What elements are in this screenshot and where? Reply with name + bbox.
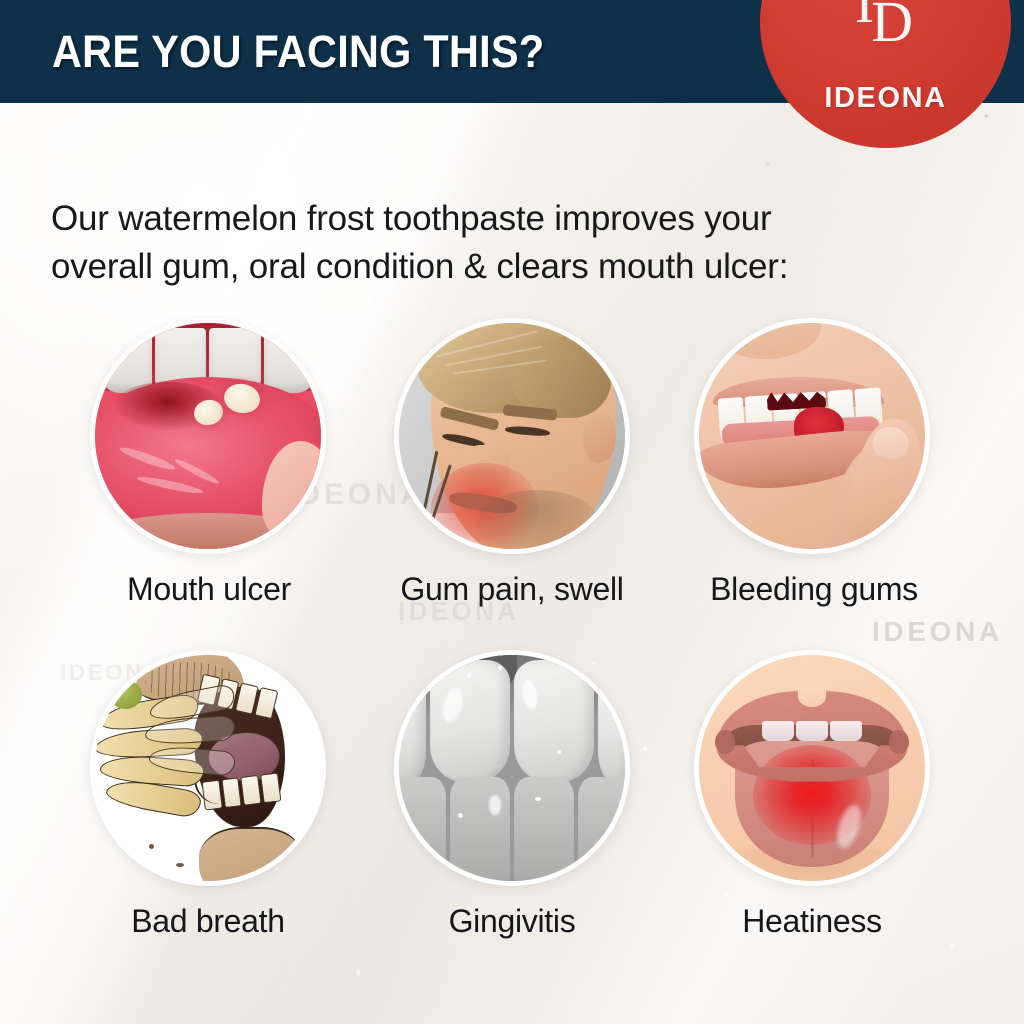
symptom-card-bleeding-gums[interactable]: Bleeding gums [662,318,962,608]
tooth [762,721,794,741]
poster-canvas: IDEONA IDEONA IDEONA IDEONA ARE YOU FACI… [0,0,1024,1024]
tooth [796,721,828,741]
brand-logo-badge[interactable]: ID IDEONA [760,0,1011,148]
bleeding-gums-photo [699,323,925,549]
tooth [264,328,316,394]
symptom-thumb-frame [694,650,930,886]
symptom-thumb-frame [90,318,326,554]
intro-paragraph: Our watermelon frost toothpaste improves… [51,195,951,290]
symptom-thumb-frame [694,318,930,554]
logo-wordmark: IDEONA [760,82,1011,115]
symptom-thumb-frame [394,318,630,554]
heat-upper-teeth [762,721,861,741]
ging-upper-teeth [399,660,625,782]
symptom-card-bad-breath[interactable]: Bad breath [58,650,358,940]
breath-ink-speck [176,863,184,867]
tooth [598,677,625,782]
symptom-label: Gingivitis [362,903,662,940]
breath-ink-speck [149,844,154,849]
tooth [578,777,625,881]
symptom-card-mouth-ulcer[interactable]: Mouth ulcer [58,318,358,608]
pain-stubble [476,490,598,549]
mouth-ulcer-photo [95,323,321,549]
pain-ear [582,413,616,463]
symptom-label: Mouth ulcer [60,571,358,608]
bad-breath-illustration [95,655,321,881]
intro-line-2: overall gum, oral condition & clears mou… [51,243,951,291]
ging-fleck [467,673,472,678]
tooth [399,677,426,782]
heat-chin-shadow [722,849,903,881]
tooth [514,660,594,782]
logo-monogram-letter-d: D [871,0,913,54]
man-wincing-photo [399,323,625,549]
inflamed-tongue-illustration [699,655,925,881]
symptom-thumb-frame [394,650,630,886]
ging-lower-teeth [399,777,625,881]
tooth [241,775,262,806]
tooth [399,777,446,881]
symptom-label: Gum pain, swell [362,571,662,608]
symptom-thumb-frame [90,650,326,886]
breath-jaw [199,827,303,881]
symptom-label: Bad breath [58,903,358,940]
tooth [450,777,510,881]
symptom-card-gum-pain[interactable]: Gum pain, swell [362,318,662,608]
intro-line-1: Our watermelon frost toothpaste improves… [51,195,951,243]
symptom-label: Bleeding gums [666,571,962,608]
heat-lip-notch [798,687,825,707]
logo-monogram: ID [760,0,1011,69]
symptom-label: Heatiness [662,903,962,940]
ging-fleck [458,813,463,818]
tooth [514,777,574,881]
symptom-card-gingivitis[interactable]: Gingivitis [362,650,662,940]
page-title: ARE YOU FACING THIS? [52,26,544,78]
ging-highlight [489,795,500,815]
gingivitis-photo [399,655,625,881]
symptom-grid: Mouth ulcer [0,318,1024,968]
symptom-card-heatiness[interactable]: Heatiness [662,650,962,940]
tooth [830,721,862,741]
